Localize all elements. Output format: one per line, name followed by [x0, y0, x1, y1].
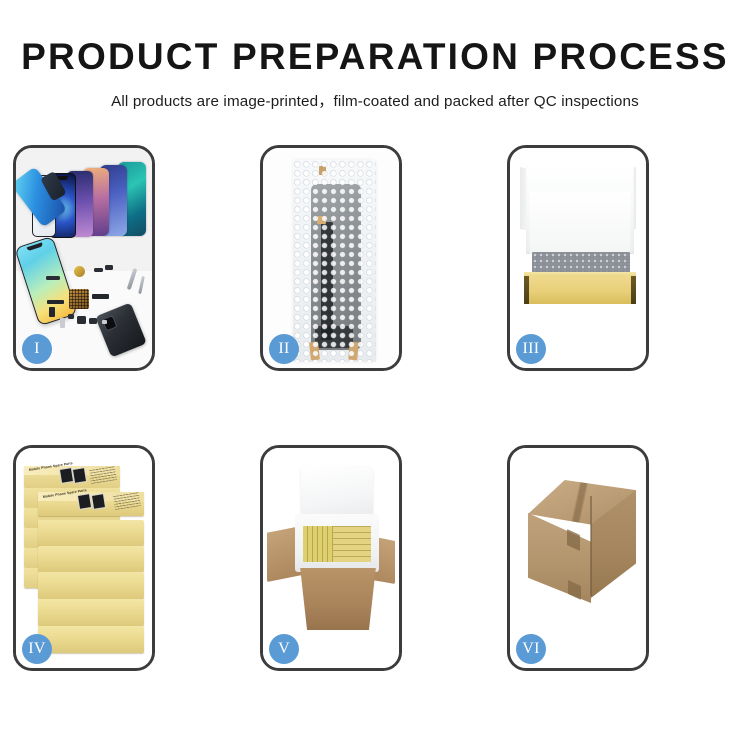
step-badge-5: V	[269, 634, 299, 664]
step-badge-6: VI	[516, 634, 546, 664]
step-2-image: II	[263, 148, 399, 368]
stacked-box-front-3	[38, 546, 144, 572]
box-window-front-b	[91, 493, 106, 510]
step-1-image: I	[16, 148, 152, 368]
part-sim-tray	[60, 318, 65, 328]
part-logic-board	[69, 289, 89, 309]
process-step-3[interactable]: III	[507, 145, 649, 371]
step-4-image: Mobile Phone Spare Parts Mobile Phone Sp…	[16, 448, 152, 668]
part-battery-strip	[46, 276, 60, 280]
stacked-box-front-2	[38, 520, 144, 546]
step-badge-4: IV	[22, 634, 52, 664]
part-camera-module	[77, 316, 86, 324]
process-step-6[interactable]: VI	[507, 445, 649, 671]
step-3-image: III	[510, 148, 646, 368]
yellow-boxes-inside	[303, 526, 371, 562]
part-connector-b	[105, 265, 113, 270]
stacked-box-front-5	[38, 599, 144, 626]
process-step-4[interactable]: Mobile Phone Spare Parts Mobile Phone Sp…	[13, 445, 155, 671]
carton-body	[295, 568, 381, 630]
part-speaker-coil	[74, 266, 85, 277]
step-6-image: VI	[510, 448, 646, 668]
page-title: PRODUCT PREPARATION PROCESS	[0, 38, 750, 77]
stacked-box-front-6	[38, 626, 144, 653]
process-step-grid: I II	[13, 145, 737, 671]
part-chip-small	[68, 314, 74, 319]
stacked-box-front-4	[38, 572, 144, 599]
bubble-texture-overlay	[293, 160, 376, 362]
process-step-2[interactable]: II	[260, 145, 402, 371]
foam-liner-sheet	[530, 192, 630, 254]
process-step-1[interactable]: I	[13, 145, 155, 371]
box-window-rear-b	[72, 467, 87, 484]
part-connector-a	[94, 268, 103, 272]
part-flex-cable-left	[47, 300, 64, 304]
step-5-image: V	[263, 448, 399, 668]
part-flex-cable-right	[92, 294, 109, 299]
step-badge-1: I	[22, 334, 52, 364]
box-front-panel	[524, 276, 636, 304]
bubble-wrap-bag	[293, 160, 376, 362]
page-subtitle: All products are image-printed，film-coat…	[0, 89, 750, 111]
part-flex-cable-lower	[49, 307, 55, 317]
step-badge-2: II	[269, 334, 299, 364]
page-header: PRODUCT PREPARATION PROCESS All products…	[0, 0, 750, 111]
stacked-box-front-1: Mobile Phone Spare Parts	[38, 492, 144, 516]
part-taptic-engine	[89, 318, 97, 324]
step-badge-3: III	[516, 334, 546, 364]
part-screw-set	[102, 320, 107, 324]
stacked-box-rear-1: Mobile Phone Spare Parts	[24, 466, 120, 488]
box-stack: Mobile Phone Spare Parts Mobile Phone Sp…	[24, 466, 148, 656]
process-step-5[interactable]: V	[260, 445, 402, 671]
box-window-front-a	[77, 493, 92, 510]
carton-vertical-edge	[590, 496, 592, 596]
